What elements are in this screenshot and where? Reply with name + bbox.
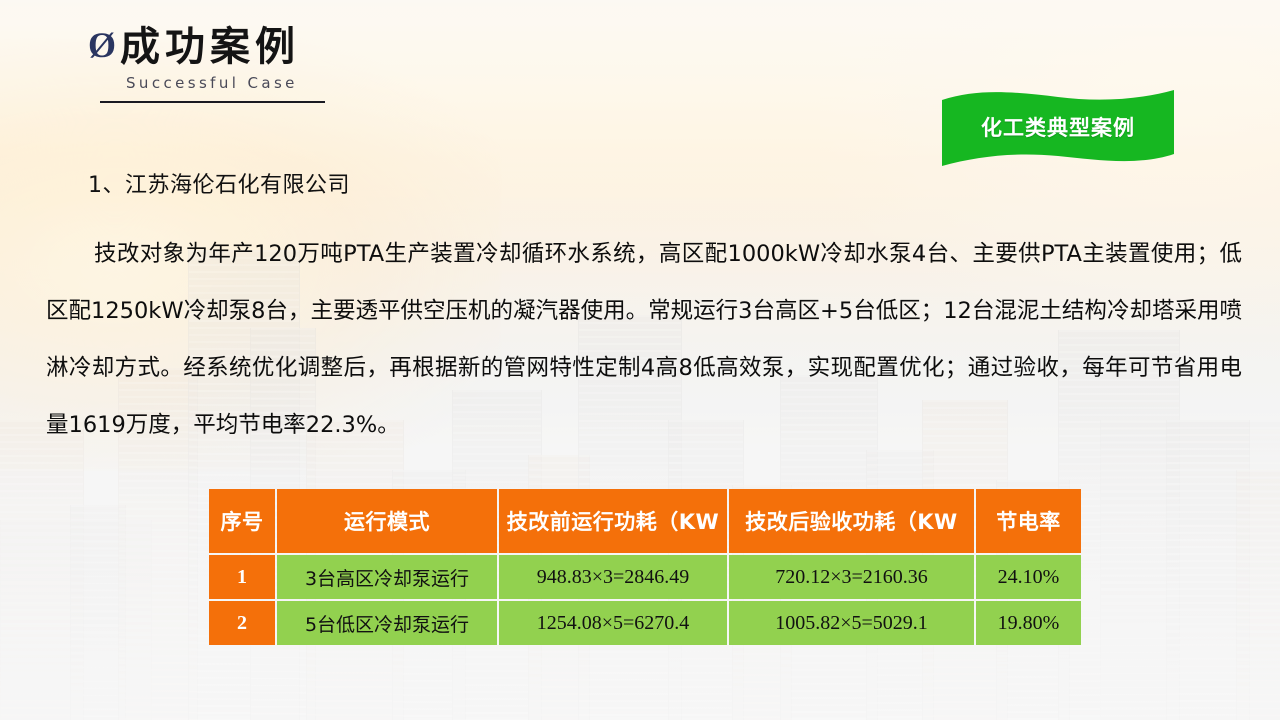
ribbon-label: 化工类典型案例 [938, 112, 1178, 142]
table-header-label: 序号 [209, 506, 275, 536]
table-header-label: 技改后验收功耗（KW [729, 506, 974, 536]
table-header-label: 技改前运行功耗（KW [499, 506, 727, 536]
table-header-cell-after: 技改后验收功耗（KW [729, 489, 974, 553]
table-cell-saving: 24.10% [976, 555, 1081, 599]
table-cell-after: 720.12×3=2160.36 [729, 555, 974, 599]
table-cell-index: 2 [209, 601, 275, 645]
results-table-wrapper: 序号 运行模式 技改前运行功耗（KW 技改后验收功耗（KW 节电率 [207, 487, 1075, 647]
table-header-label: 运行模式 [277, 506, 497, 536]
table-header-cell-index: 序号 [209, 489, 275, 553]
slashed-circle-icon: Ø [88, 27, 116, 63]
table-row: 2 5台低区冷却泵运行 1254.08×5=6270.4 1005.82×5=5… [209, 601, 1081, 645]
results-table: 序号 运行模式 技改前运行功耗（KW 技改后验收功耗（KW 节电率 [207, 487, 1083, 647]
table-cell-after: 1005.82×5=5029.1 [729, 601, 974, 645]
title-row: Ø 成功案例 [88, 26, 508, 68]
table-cell-mode: 5台低区冷却泵运行 [277, 601, 497, 645]
page-header: Ø 成功案例 Successful Case [88, 26, 508, 103]
category-ribbon: 化工类典型案例 [938, 86, 1178, 170]
company-name-line: 1、江苏海伦石化有限公司 [88, 167, 350, 199]
table-header-cell-saving: 节电率 [976, 489, 1081, 553]
page-title: 成功案例 [120, 26, 300, 68]
table-header-cell-before: 技改前运行功耗（KW [499, 489, 727, 553]
table-header-cell-mode: 运行模式 [277, 489, 497, 553]
table-cell-before: 948.83×3=2846.49 [499, 555, 727, 599]
table-header-label: 节电率 [976, 506, 1081, 536]
title-divider [100, 101, 325, 103]
table-cell-saving: 19.80% [976, 601, 1081, 645]
page-subtitle: Successful Case [126, 74, 508, 92]
table-cell-mode: 3台高区冷却泵运行 [277, 555, 497, 599]
table-cell-index: 1 [209, 555, 275, 599]
slide-canvas: Ø 成功案例 Successful Case 化工类典型案例 1、江苏海伦石化有… [0, 0, 1280, 720]
table-cell-before: 1254.08×5=6270.4 [499, 601, 727, 645]
table-row: 1 3台高区冷却泵运行 948.83×3=2846.49 720.12×3=21… [209, 555, 1081, 599]
table-header-row: 序号 运行模式 技改前运行功耗（KW 技改后验收功耗（KW 节电率 [209, 489, 1081, 553]
case-description-paragraph: 技改对象为年产120万吨PTA生产装置冷却循环水系统，高区配1000kW冷却水泵… [46, 226, 1242, 454]
